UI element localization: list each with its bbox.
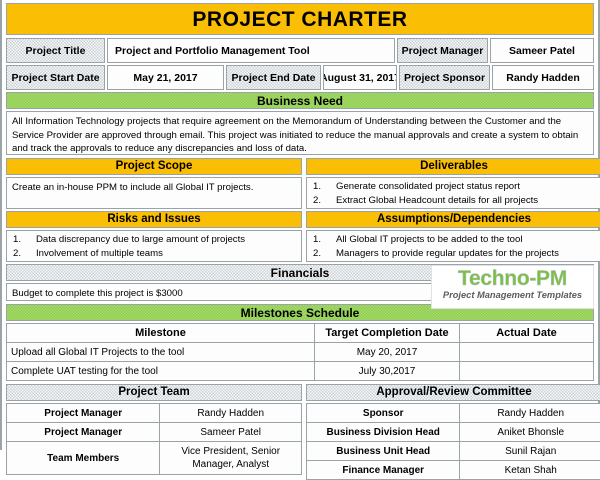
project-start-date-label: Project Start Date (6, 65, 105, 90)
team-role: Team Members (7, 442, 160, 475)
list-text: Data discrepancy due to large amount of … (36, 233, 245, 247)
risks-and-issues-list: 1.Data discrepancy due to large amount o… (6, 230, 302, 262)
document-title: PROJECT CHARTER (6, 3, 594, 35)
project-start-date-value: May 21, 2017 (107, 65, 224, 90)
list-text: Extract Global Headcount details for all… (336, 194, 538, 208)
assumptions-heading: Assumptions/Dependencies (306, 211, 600, 228)
committee-role: Sponsor (307, 404, 460, 423)
project-title-value: Project and Portfolio Management Tool (107, 38, 395, 63)
table-row: Project Manager Randy Hadden (7, 404, 302, 423)
approval-committee-section: Approval/Review Committee Sponsor Randy … (306, 384, 600, 480)
team-member-name: Sameer Patel (160, 423, 302, 442)
project-info-row-2: Project Start Date May 21, 2017 Project … (6, 65, 594, 90)
business-need-text: All Information Technology projects that… (6, 111, 594, 155)
risks-assumptions-row: Risks and Issues 1.Data discrepancy due … (6, 211, 594, 262)
list-text: Involvement of multiple teams (36, 247, 163, 261)
project-team-table: Project Manager Randy Hadden Project Man… (6, 403, 302, 475)
milestone-name: Upload all Global IT Projects to the too… (7, 343, 315, 362)
list-number: 1. (10, 233, 36, 247)
project-sponsor-label: Project Sponsor (399, 65, 490, 90)
deliverables-list: 1.Generate consolidated project status r… (306, 177, 600, 209)
list-number: 2. (10, 247, 36, 261)
list-text: Managers to provide regular updates for … (336, 247, 559, 261)
table-row: Team Members Vice President, Senior Mana… (7, 442, 302, 475)
table-row: Finance Manager Ketan Shah (307, 461, 600, 480)
project-scope-text: Create an in-house PPM to include all Gl… (6, 177, 302, 209)
logo-tagline: Project Management Templates (432, 290, 593, 300)
team-role: Project Manager (7, 423, 160, 442)
list-item: 1.Generate consolidated project status r… (310, 180, 598, 194)
table-row: Business Division Head Aniket Bhonsle (307, 423, 600, 442)
list-number: 2. (310, 194, 336, 208)
project-info-row-1: Project Title Project and Portfolio Mana… (6, 38, 594, 63)
milestones-table: Milestone Target Completion Date Actual … (6, 323, 594, 381)
milestone-column-header: Milestone (7, 324, 315, 343)
project-title-label: Project Title (6, 38, 105, 63)
committee-member-name: Sunil Rajan (460, 442, 600, 461)
committee-role: Business Division Head (307, 423, 460, 442)
table-row: Business Unit Head Sunil Rajan (307, 442, 600, 461)
table-row: Sponsor Randy Hadden (307, 404, 600, 423)
logo-main-text: Techno-PM (432, 268, 593, 290)
table-row: Complete UAT testing for the tool July 3… (7, 362, 594, 381)
techno-pm-logo: Techno-PM Project Management Templates (431, 265, 594, 309)
list-text: All Global IT projects to be added to th… (336, 233, 522, 247)
list-text: Generate consolidated project status rep… (336, 180, 520, 194)
list-item: 1.Data discrepancy due to large amount o… (10, 233, 298, 247)
project-team-section: Project Team Project Manager Randy Hadde… (6, 384, 302, 480)
milestone-target-date: May 20, 2017 (315, 343, 460, 362)
list-item: 2.Managers to provide regular updates fo… (310, 247, 598, 261)
team-member-name: Vice President, Senior Manager, Analyst (160, 442, 302, 475)
list-number: 1. (310, 180, 336, 194)
business-need-heading: Business Need (6, 92, 594, 109)
assumptions-section: Assumptions/Dependencies 1.All Global IT… (306, 211, 600, 262)
project-end-date-value: August 31, 2017 (323, 65, 397, 90)
risks-and-issues-section: Risks and Issues 1.Data discrepancy due … (6, 211, 302, 262)
team-role: Project Manager (7, 404, 160, 423)
actual-date-column-header: Actual Date (460, 324, 594, 343)
project-scope-section: Project Scope Create an in-house PPM to … (6, 158, 302, 209)
table-header-row: Milestone Target Completion Date Actual … (7, 324, 594, 343)
project-charter-document: PROJECT CHARTER Project Title Project an… (0, 0, 600, 450)
milestone-actual-date (460, 362, 594, 381)
risks-and-issues-heading: Risks and Issues (6, 211, 302, 228)
committee-member-name: Aniket Bhonsle (460, 423, 600, 442)
table-row: Upload all Global IT Projects to the too… (7, 343, 594, 362)
approval-committee-table: Sponsor Randy Hadden Business Division H… (306, 403, 600, 480)
milestone-actual-date (460, 343, 594, 362)
project-sponsor-value: Randy Hadden (492, 65, 594, 90)
project-manager-label: Project Manager (397, 38, 488, 63)
approval-committee-heading: Approval/Review Committee (306, 384, 600, 401)
milestone-target-date: July 30,2017 (315, 362, 460, 381)
team-committee-row: Project Team Project Manager Randy Hadde… (6, 384, 594, 480)
project-manager-value: Sameer Patel (490, 38, 594, 63)
deliverables-section: Deliverables 1.Generate consolidated pro… (306, 158, 600, 209)
deliverables-heading: Deliverables (306, 158, 600, 175)
list-number: 2. (310, 247, 336, 261)
team-member-name: Randy Hadden (160, 404, 302, 423)
milestone-name: Complete UAT testing for the tool (7, 362, 315, 381)
committee-member-name: Ketan Shah (460, 461, 600, 480)
list-item: 2.Involvement of multiple teams (10, 247, 298, 261)
committee-role: Finance Manager (307, 461, 460, 480)
committee-member-name: Randy Hadden (460, 404, 600, 423)
scope-deliverables-row: Project Scope Create an in-house PPM to … (6, 158, 594, 209)
project-end-date-label: Project End Date (226, 65, 321, 90)
project-scope-heading: Project Scope (6, 158, 302, 175)
assumptions-list: 1.All Global IT projects to be added to … (306, 230, 600, 262)
list-item: 2.Extract Global Headcount details for a… (310, 194, 598, 208)
target-date-column-header: Target Completion Date (315, 324, 460, 343)
list-item: 1.All Global IT projects to be added to … (310, 233, 598, 247)
committee-role: Business Unit Head (307, 442, 460, 461)
project-team-heading: Project Team (6, 384, 302, 401)
list-number: 1. (310, 233, 336, 247)
table-row: Project Manager Sameer Patel (7, 423, 302, 442)
